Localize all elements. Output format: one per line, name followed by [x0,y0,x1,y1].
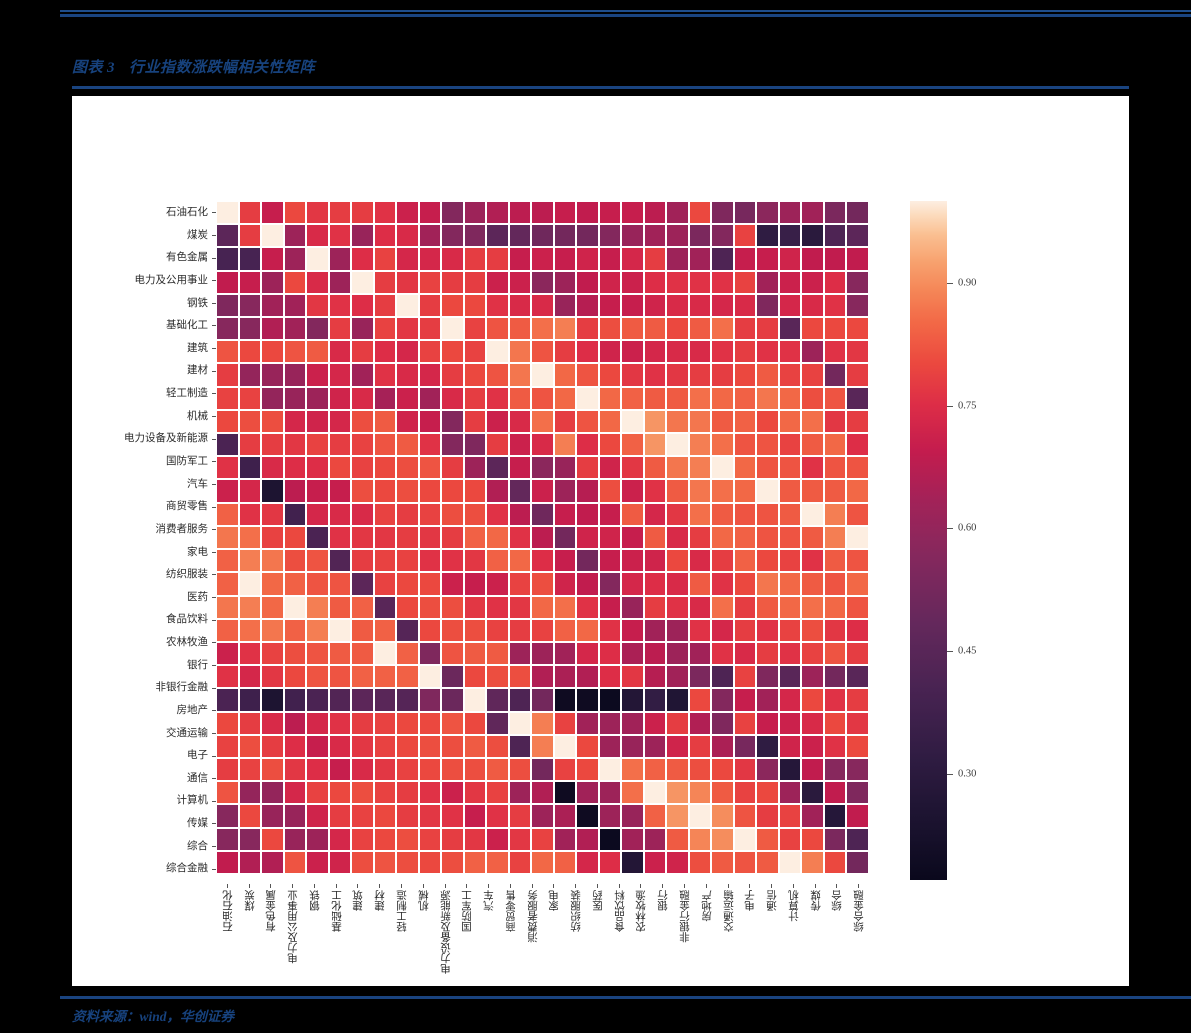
colorbar-tick-label: 0.75 [958,400,976,411]
heatmap-cell [846,642,869,665]
heatmap-cell [261,201,284,224]
heatmap-cell [464,876,487,878]
heatmap-cell [779,735,802,758]
heatmap-cell [509,410,532,433]
heatmap-cell [216,387,239,410]
heatmap-cell [734,549,757,572]
heatmap-cell [261,271,284,294]
heatmap-cell [531,851,554,874]
heatmap-cell [306,479,329,502]
heatmap-cell [756,619,779,642]
heatmap-cell [644,781,667,804]
heatmap-cell [374,572,397,595]
heatmap-cell [509,317,532,340]
heatmap-cell [464,851,487,874]
heatmap-cell [711,596,734,619]
heatmap-cell [689,526,712,549]
heatmap-cell [576,340,599,363]
heatmap-cell [351,804,374,827]
heatmap-cell [824,224,847,247]
heatmap-cell [216,247,239,270]
heatmap-cell [666,363,689,386]
y-axis-label: 农林牧渔 [166,631,208,654]
colorbar-tick-label: 0.90 [958,277,976,288]
heatmap-cell [486,317,509,340]
heatmap-cell [779,201,802,224]
heatmap-cell [239,479,262,502]
heatmap-cell [486,294,509,317]
y-axis-label: 有色金属 [166,246,208,269]
heatmap-cell [396,596,419,619]
heatmap-cell [644,317,667,340]
x-axis-tick [510,884,511,888]
heatmap-cell [734,247,757,270]
heatmap-cell [554,479,577,502]
heatmap-cell [306,526,329,549]
y-axis-label: 非银行金融 [156,676,209,699]
heatmap-cell [689,294,712,317]
heatmap-cell [261,294,284,317]
heatmap-cell [419,665,442,688]
heatmap-cell [396,619,419,642]
heatmap-cell [756,201,779,224]
y-axis-label: 电力设备及新能源 [124,427,208,450]
heatmap-cell [306,247,329,270]
heatmap-cell [374,642,397,665]
heatmap-cell [419,712,442,735]
x-axis-tick [553,884,554,888]
heatmap-cell [239,712,262,735]
heatmap-cell [284,688,307,711]
heatmap-cell [734,712,757,735]
heatmap-cell [419,433,442,456]
heatmap-cell [419,410,442,433]
heatmap-cell [576,876,599,878]
heatmap-cell [846,828,869,851]
heatmap-cell [779,224,802,247]
heatmap-cell [801,735,824,758]
heatmap-cell [306,665,329,688]
heatmap-cell [329,804,352,827]
heatmap-cell [576,224,599,247]
heatmap-cell [396,851,419,874]
heatmap-cell [554,735,577,758]
x-axis-tick [793,884,794,888]
heatmap-cell [261,876,284,878]
heatmap-cell [441,851,464,874]
heatmap-cell [801,665,824,688]
heatmap-cell [216,294,239,317]
heatmap-cell [779,688,802,711]
heatmap-cell [801,596,824,619]
heatmap-cell [329,665,352,688]
heatmap-cell [396,317,419,340]
heatmap-cell [261,224,284,247]
y-axis-label: 消费者服务 [156,518,209,541]
heatmap-cell [374,247,397,270]
heatmap-cell [419,688,442,711]
heatmap-cell [531,387,554,410]
heatmap-cell [711,224,734,247]
heatmap-cell [531,201,554,224]
heatmap-cell [779,828,802,851]
heatmap-cell [351,317,374,340]
heatmap-cell [261,317,284,340]
heatmap-cell [374,619,397,642]
heatmap-cell [419,876,442,878]
heatmap-cell [239,665,262,688]
heatmap-cell [644,363,667,386]
heatmap-cell [621,572,644,595]
heatmap-cell [239,317,262,340]
heatmap-cell [734,456,757,479]
heatmap-cell [689,572,712,595]
heatmap-cell [351,619,374,642]
heatmap-cell [464,224,487,247]
x-axis-tick [357,884,358,888]
heatmap-cell [351,410,374,433]
heatmap-cell [576,363,599,386]
heatmap-cell [306,224,329,247]
heatmap-cell [756,387,779,410]
heatmap-cell [846,479,869,502]
heatmap-cell [396,340,419,363]
heatmap-cell [756,688,779,711]
y-axis-label: 建筑 [187,337,208,360]
heatmap-cell [509,572,532,595]
heatmap-cell [644,828,667,851]
heatmap-cell [689,596,712,619]
heatmap-cell [464,201,487,224]
heatmap-cell [531,479,554,502]
heatmap-cell [464,781,487,804]
heatmap-cell [599,294,622,317]
heatmap-cell [554,572,577,595]
heatmap-cell [689,387,712,410]
heatmap-cell [554,271,577,294]
x-axis-tick [640,884,641,888]
heatmap-cell [441,876,464,878]
heatmap-cell [329,596,352,619]
colorbar-gradient [910,201,947,880]
heatmap-cell [486,549,509,572]
heatmap-cell [216,340,239,363]
heatmap-cell [441,804,464,827]
x-axis-label: 食品饮料 [613,890,628,932]
heatmap-cell [711,665,734,688]
heatmap-cell [284,642,307,665]
heatmap-cell [239,201,262,224]
heatmap-cell [419,317,442,340]
heatmap-cell [756,735,779,758]
heatmap-cell [374,876,397,878]
y-axis-label: 煤炭 [187,224,208,247]
x-axis-label: 房地产 [700,890,715,922]
heatmap-cell [801,758,824,781]
heatmap-cell [464,456,487,479]
heatmap-cell [711,828,734,851]
heatmap-cell [509,247,532,270]
heatmap-cell [306,317,329,340]
heatmap-cell [486,828,509,851]
heatmap-cell [846,549,869,572]
heatmap-cell [396,456,419,479]
heatmap-cell [239,294,262,317]
heatmap-cell [284,572,307,595]
x-axis-tick [336,884,337,888]
heatmap-cell [464,387,487,410]
x-axis-label: 基础化工 [330,890,345,932]
heatmap-cell [779,503,802,526]
heatmap-cell [396,433,419,456]
heatmap-cell [306,804,329,827]
heatmap-cell [689,642,712,665]
heatmap-cell [599,479,622,502]
heatmap-cell [756,526,779,549]
heatmap-cell [779,526,802,549]
heatmap-cell [419,549,442,572]
heatmap-cell [464,572,487,595]
heatmap-cell [329,433,352,456]
heatmap-cell [374,479,397,502]
heatmap-cell [329,247,352,270]
heatmap-cell [711,363,734,386]
heatmap-cell [284,479,307,502]
heatmap-cell [261,758,284,781]
heatmap-cell [576,456,599,479]
heatmap-cell [801,526,824,549]
heatmap-cell [239,247,262,270]
heatmap-cell [486,572,509,595]
x-axis-tick [684,884,685,888]
heatmap-cell [689,758,712,781]
heatmap-cell [486,665,509,688]
heatmap-cell [531,642,554,665]
heatmap-cell [711,851,734,874]
heatmap-cell [599,828,622,851]
heatmap-cell [734,410,757,433]
heatmap-cell [284,503,307,526]
heatmap-cell [756,572,779,595]
heatmap-cell [599,876,622,878]
heatmap-cell [464,804,487,827]
heatmap-cell [374,410,397,433]
heatmap-cell [599,503,622,526]
heatmap-cell [464,479,487,502]
heatmap-cell [374,665,397,688]
heatmap-cell [329,619,352,642]
heatmap-cell [666,549,689,572]
heatmap-cell [621,735,644,758]
heatmap-cell [306,828,329,851]
heatmap-cell [779,642,802,665]
heatmap-cell [419,363,442,386]
heatmap-cell [261,851,284,874]
heatmap-cell [396,712,419,735]
heatmap-cell [846,503,869,526]
heatmap-cell [621,456,644,479]
heatmap-cell [779,247,802,270]
figure-title-text: 行业指数涨跌幅相关性矩阵 [129,60,315,76]
heatmap-cell [509,642,532,665]
heatmap-cell [599,735,622,758]
heatmap-cell [689,688,712,711]
heatmap-cell [261,688,284,711]
heatmap-cell [329,781,352,804]
heatmap-cell [509,804,532,827]
x-axis-tick [249,884,250,888]
heatmap-cell [486,433,509,456]
heatmap-cell [284,410,307,433]
heatmap-cell [621,549,644,572]
x-axis-tick [597,884,598,888]
heatmap-cell [666,271,689,294]
heatmap-cell [576,572,599,595]
heatmap-cell [306,758,329,781]
heatmap-cell [711,642,734,665]
heatmap-cell [216,804,239,827]
heatmap-cell [306,851,329,874]
heatmap-cell [351,572,374,595]
heatmap-cell [711,735,734,758]
heatmap-cell [284,363,307,386]
heatmap-cell [509,224,532,247]
heatmap-cell [216,433,239,456]
heatmap-cell [351,876,374,878]
heatmap-cell [846,758,869,781]
heatmap-cell [329,387,352,410]
heatmap-cell [824,503,847,526]
heatmap-cell [711,294,734,317]
heatmap-cell [261,479,284,502]
heatmap-cell [441,387,464,410]
heatmap-cell [711,201,734,224]
colorbar-tick-label: 0.30 [958,768,976,779]
heatmap-cell [576,317,599,340]
heatmap-cell [306,271,329,294]
heatmap-cell [644,456,667,479]
heatmap-cell [396,665,419,688]
heatmap-cell [689,456,712,479]
heatmap-cell [756,851,779,874]
heatmap-cell [824,828,847,851]
x-axis-label: 建筑 [351,890,366,911]
heatmap-cell [756,479,779,502]
heatmap-cell [689,317,712,340]
heatmap-cell [576,642,599,665]
heatmap-cell [419,828,442,851]
heatmap-cell [756,224,779,247]
heatmap-cell [284,549,307,572]
heatmap-cell [824,572,847,595]
heatmap-cell [351,712,374,735]
heatmap-cell [486,619,509,642]
x-axis-label: 建材 [373,890,388,911]
heatmap-cell [329,340,352,363]
colorbar-tick [947,774,953,775]
heatmap-cell [666,572,689,595]
heatmap-cell [441,549,464,572]
heatmap-cell [846,317,869,340]
heatmap-cell [531,828,554,851]
x-axis-label: 商贸零售 [504,890,519,932]
heatmap-cell [284,317,307,340]
heatmap-cell [846,735,869,758]
heatmap-cell [509,688,532,711]
heatmap-cell [621,247,644,270]
heatmap-cell [374,456,397,479]
figure-title: 图表3行业指数涨跌幅相关性矩阵 [72,56,315,77]
heatmap-cell [644,387,667,410]
heatmap-cell [801,619,824,642]
heatmap-cell [779,804,802,827]
heatmap-cell [644,549,667,572]
heatmap-cell [284,433,307,456]
heatmap-cell [284,735,307,758]
heatmap-cell [464,410,487,433]
heatmap-cell [734,735,757,758]
heatmap-cell [261,665,284,688]
colorbar-tick [947,283,953,284]
heatmap-cell [284,876,307,878]
colorbar[interactable]: 0.900.750.600.450.30 [910,201,947,880]
heatmap-cell [576,503,599,526]
heatmap-cell [621,642,644,665]
heatmap-cell [486,688,509,711]
heatmap-cell [329,456,352,479]
heatmap-cell [216,712,239,735]
heatmap-cell [396,735,419,758]
heatmap-cell [824,596,847,619]
heatmap-cell [239,851,262,874]
x-axis-tick [815,884,816,888]
x-axis-tick [575,884,576,888]
y-axis-label: 商贸零售 [166,495,208,518]
x-axis-tick [466,884,467,888]
heatmap-cell [216,665,239,688]
heatmap-cell [509,876,532,878]
heatmap-cell [554,201,577,224]
heatmap-cell [824,247,847,270]
heatmap-cell [576,410,599,433]
heatmap-cell [644,688,667,711]
heatmap-cell [621,363,644,386]
heatmap-cell [261,735,284,758]
heatmap-cell [486,363,509,386]
heatmap-cell [531,526,554,549]
x-axis-tick [227,884,228,888]
heatmap-cell [351,479,374,502]
heatmap-cell [734,851,757,874]
heatmap-cell [779,340,802,363]
heatmap-cell [824,619,847,642]
heatmap-cell [554,433,577,456]
heatmap-cell [711,503,734,526]
correlation-heatmap-grid[interactable] [216,201,869,880]
heatmap-cell [329,526,352,549]
heatmap-cell [239,619,262,642]
heatmap-cell [306,596,329,619]
x-axis-label: 消费者服务 [526,890,541,943]
heatmap-cell [711,781,734,804]
heatmap-cell [801,340,824,363]
heatmap-cell [734,317,757,340]
heatmap-cell [644,851,667,874]
y-axis-label: 轻工制造 [166,382,208,405]
heatmap-cell [239,828,262,851]
heatmap-cell [464,363,487,386]
heatmap-cell [711,526,734,549]
